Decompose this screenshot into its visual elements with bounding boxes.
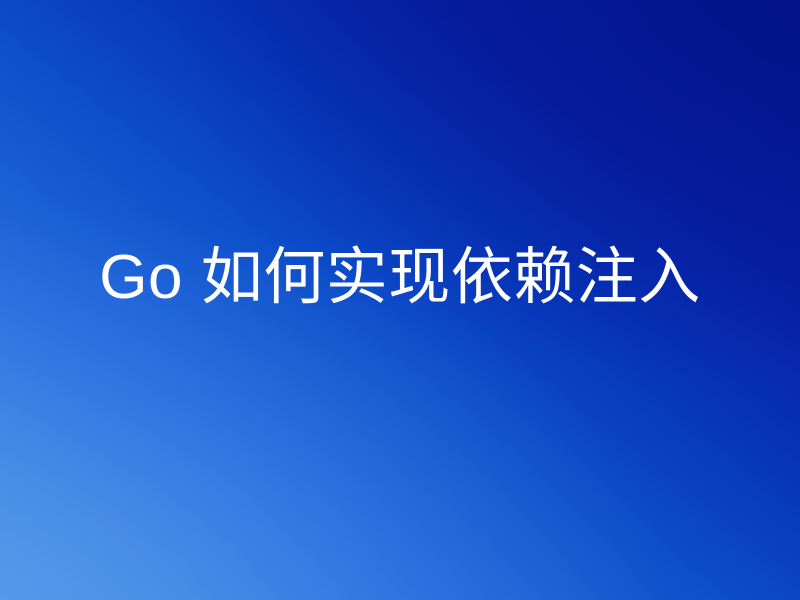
title-container: Go 如何实现依赖注入	[0, 0, 800, 600]
slide-title: Go 如何实现依赖注入	[99, 244, 700, 312]
title-slide: Go 如何实现依赖注入	[0, 0, 800, 600]
